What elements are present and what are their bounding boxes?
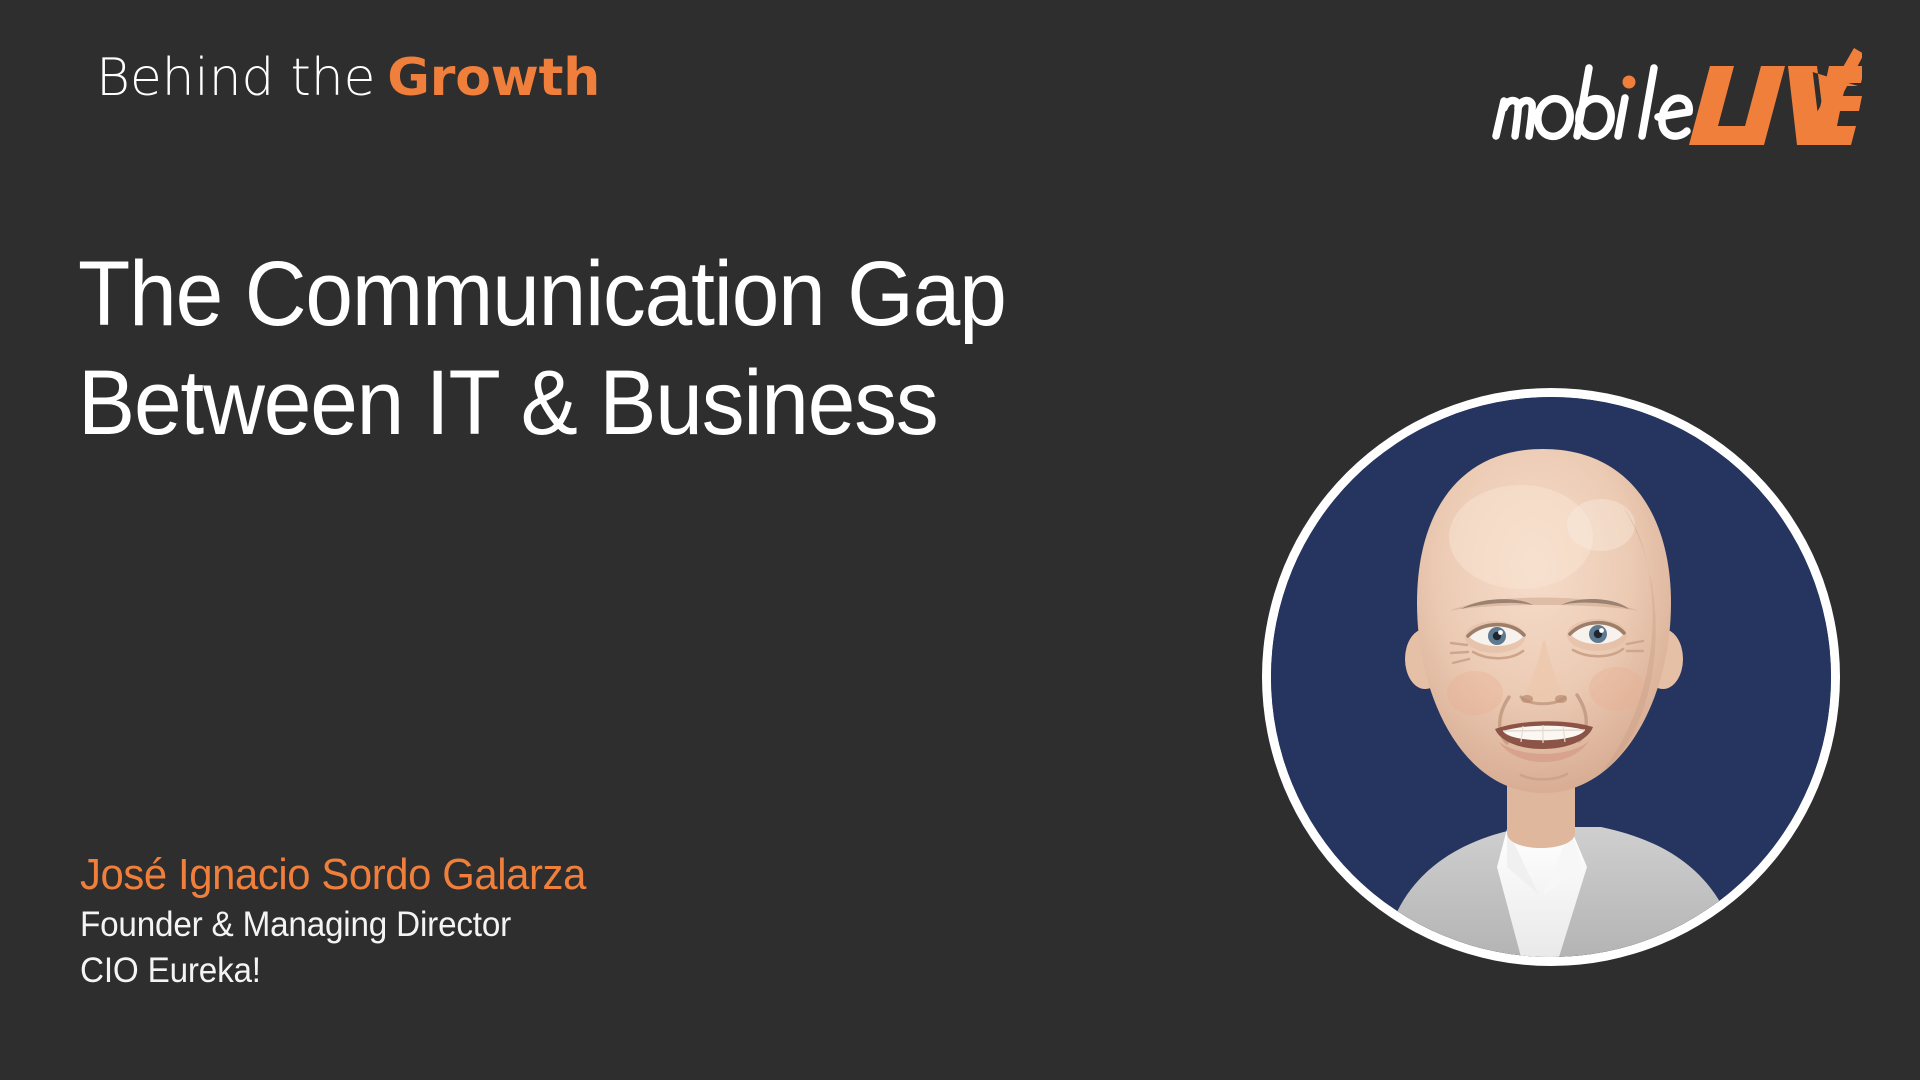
speaker-organization: CIO Eureka!	[80, 948, 586, 994]
episode-title-line-2: Between IT & Business	[78, 349, 1148, 458]
speaker-portrait-illustration	[1271, 397, 1831, 957]
logo-i-dot-icon	[1623, 76, 1636, 89]
mobilelive-logo	[1482, 46, 1862, 156]
mobilelive-logo-icon	[1482, 46, 1862, 156]
show-name-accent: Growth	[387, 48, 600, 108]
episode-title-line-1: The Communication Gap	[78, 240, 1148, 349]
episode-title: The Communication Gap Between IT & Busin…	[78, 240, 1228, 457]
speaker-role: Founder & Managing Director	[80, 902, 586, 948]
speaker-photo	[1271, 397, 1831, 957]
speaker-name: José Ignacio Sordo Galarza	[80, 848, 586, 902]
show-brand-lockup: Behind theGrowth	[96, 52, 600, 104]
speaker-avatar-frame	[1271, 397, 1831, 957]
episode-title-card: Behind theGrowth	[0, 0, 1920, 1080]
speaker-avatar	[1262, 388, 1840, 966]
speaker-info: José Ignacio Sordo Galarza Founder & Man…	[80, 848, 613, 994]
show-name-primary: Behind the	[96, 48, 375, 108]
